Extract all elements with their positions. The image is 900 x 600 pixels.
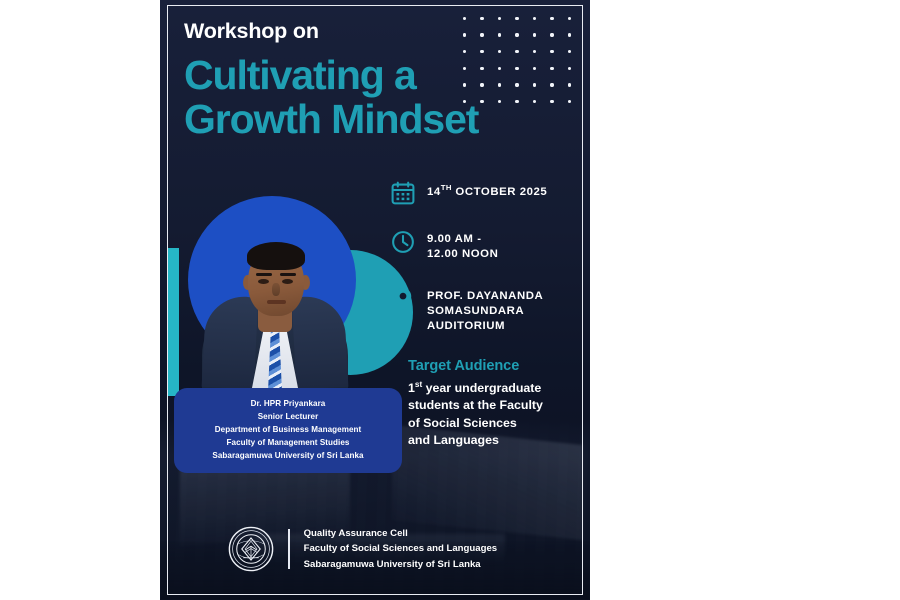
target-audience-heading: Target Audience [408, 358, 586, 374]
poster-heading: Workshop on Cultivating a Growth Mindset [184, 20, 478, 141]
target-audience: Target Audience 1st year undergraduate s… [408, 358, 586, 449]
page-title: Cultivating a Growth Mindset [184, 54, 478, 142]
event-time-row: 9.00 AM - 12.00 NOON [390, 229, 585, 262]
footer-organization: Quality Assurance Cell Faculty of Social… [304, 526, 498, 571]
speaker-name: Dr. HPR Priyankara [184, 397, 392, 410]
audience-prefix: 1 [408, 381, 415, 395]
speaker-department: Department of Business Management [184, 423, 392, 436]
speaker-info-badge: Dr. HPR Priyankara Senior Lecturer Depar… [174, 388, 402, 473]
university-crest-icon [228, 526, 274, 572]
event-venue-text: PROF. DAYANANDA SOMASUNDARA AUDITORIUM [427, 286, 543, 334]
event-time-text: 9.00 AM - 12.00 NOON [427, 229, 498, 262]
date-rest: OCTOBER 2025 [452, 186, 548, 198]
speaker-university: Sabaragamuwa University of Sri Lanka [184, 449, 392, 462]
poster-footer: Quality Assurance Cell Faculty of Social… [228, 526, 497, 572]
audience-body: year undergraduate students at the Facul… [408, 381, 543, 447]
speaker-faculty: Faculty of Management Studies [184, 436, 392, 449]
calendar-icon [390, 180, 416, 206]
workshop-poster: Workshop on Cultivating a Growth Mindset… [160, 0, 590, 600]
date-ordinal: TH [441, 183, 452, 192]
clock-icon [390, 229, 416, 255]
target-audience-text: 1st year undergraduate students at the F… [408, 379, 586, 449]
footer-divider [288, 529, 290, 569]
event-date-text: 14TH OCTOBER 2025 [427, 180, 547, 200]
speaker-photo [194, 188, 354, 388]
workshop-kicker: Workshop on [184, 20, 478, 44]
event-details: 14TH OCTOBER 2025 9.00 AM - 12.00 NOON P… [390, 180, 585, 334]
location-pin-icon [390, 286, 416, 312]
speaker-portrait-group [166, 190, 416, 415]
date-day: 14 [427, 186, 441, 198]
speaker-position: Senior Lecturer [184, 410, 392, 423]
event-date-row: 14TH OCTOBER 2025 [390, 180, 585, 206]
event-venue-row: PROF. DAYANANDA SOMASUNDARA AUDITORIUM [390, 286, 585, 334]
